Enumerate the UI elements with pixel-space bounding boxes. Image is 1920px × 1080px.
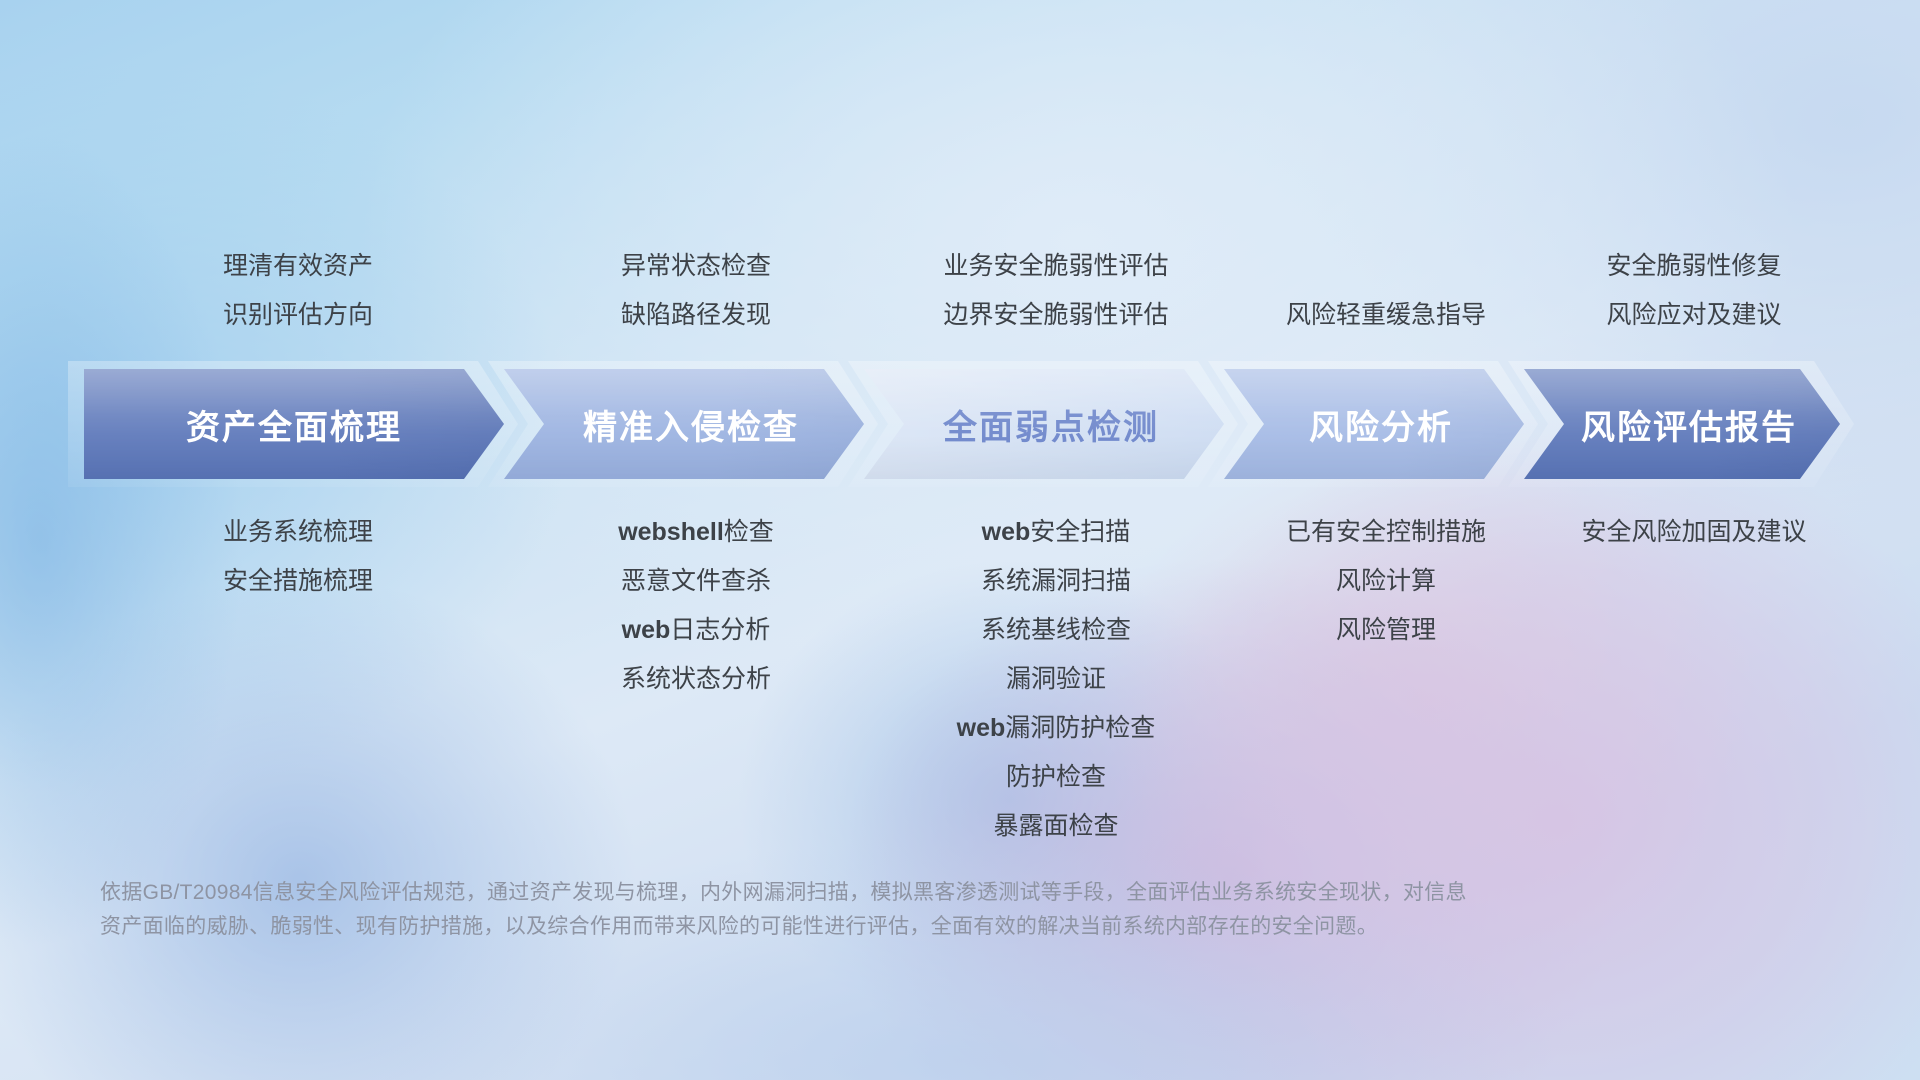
bottom-label-keyword: web [957, 714, 1006, 742]
bottom-label-text: 漏洞防护检查 [1005, 714, 1155, 742]
footer-description: 依据GB/T20984信息安全风险评估规范，通过资产发现与梳理，内外网漏洞扫描，… [100, 876, 1660, 944]
bottom-label-group-risk-report: 安全风险加固及建议 [1394, 508, 1920, 557]
process-diagram: 理清有效资产识别评估方向异常状态检查缺陷路径发现业务安全脆弱性评估边界安全脆弱性… [0, 0, 1920, 1080]
footer-line-2: 资产面临的威胁、脆弱性、现有防护措施，以及综合作用而带来风险的可能性进行评估，全… [100, 910, 1660, 944]
bottom-label-item: 风险计算 [1086, 557, 1686, 606]
bottom-label-text: 业务系统梳理 [223, 518, 373, 546]
chevron-glass-outline-weakness-detection [848, 361, 1238, 487]
top-labels-row: 理清有效资产识别评估方向异常状态检查缺陷路径发现业务安全脆弱性评估边界安全脆弱性… [0, 230, 1920, 340]
footer-line-1: 依据GB/T20984信息安全风险评估规范，通过资产发现与梳理，内外网漏洞扫描，… [100, 876, 1660, 910]
bottom-label-keyword: webshell [618, 518, 724, 546]
bottom-label-text: 系统状态分析 [621, 665, 771, 693]
bottom-label-text: 安全措施梳理 [223, 567, 373, 595]
bottom-label-text: 暴露面检查 [993, 812, 1118, 840]
bottom-label-item: 防护检查 [756, 753, 1356, 802]
bottom-label-item: 漏洞验证 [756, 655, 1356, 704]
bottom-label-text: 风险计算 [1336, 567, 1436, 595]
bottom-label-text: 漏洞验证 [1006, 665, 1106, 693]
chevron-glass-outline-asset-inventory [68, 361, 518, 487]
bottom-label-keyword: web [622, 616, 671, 644]
bottom-label-text: 风险管理 [1336, 616, 1436, 644]
bottom-label-text: 安全风险加固及建议 [1581, 518, 1806, 546]
bottom-label-keyword: web [982, 518, 1031, 546]
chevron-glass-outline-intrusion-check [488, 361, 878, 487]
bottom-label-item: 安全风险加固及建议 [1394, 508, 1920, 557]
bottom-label-text: 恶意文件查杀 [621, 567, 771, 595]
chevron-glass-outline-risk-report [1508, 361, 1854, 487]
bottom-label-text: 防护检查 [1006, 763, 1106, 791]
bottom-label-item: web漏洞防护检查 [756, 704, 1356, 753]
top-label-group-risk-report: 安全脆弱性修复风险应对及建议 [1394, 242, 1920, 340]
bottom-label-item: 风险管理 [1086, 606, 1686, 655]
chevron-glass-outline-risk-analysis [1208, 361, 1538, 487]
bottom-label-item: 暴露面检查 [756, 802, 1356, 851]
process-chevron-banner: 资产全面梳理精准入侵检查全面弱点检测风险分析风险评估报告 [84, 369, 1840, 479]
top-label-item: 风险应对及建议 [1394, 291, 1920, 340]
top-label-item: 业务安全脆弱性评估 [756, 242, 1356, 291]
top-label-item: 安全脆弱性修复 [1394, 242, 1920, 291]
